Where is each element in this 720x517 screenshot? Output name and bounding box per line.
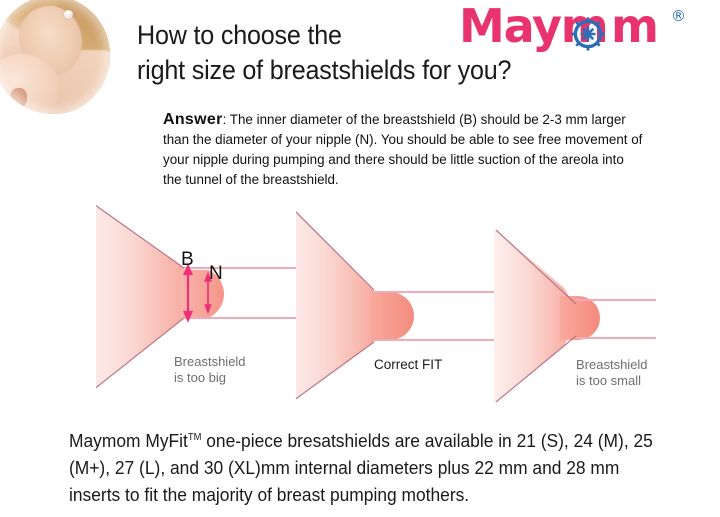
- answer-label: Answer: [163, 111, 223, 128]
- page-title-line-1: How to choose the: [137, 18, 444, 53]
- dimension-label-b: B: [181, 250, 194, 269]
- diagram-breastshield-too-small: Breastshield is too small: [490, 196, 720, 411]
- footer-text-before-tm: Maymom MyFit: [69, 430, 188, 451]
- nipple-shape: [560, 296, 600, 340]
- trademark-icon: TM: [188, 432, 202, 443]
- breastshield-fit-diagrams: B N Breastshield is too big: [0, 196, 720, 411]
- diagram-breastshield-too-big: B N Breastshield is too big: [96, 196, 326, 411]
- answer-body: : The inner diameter of the breastshield…: [163, 112, 642, 187]
- mother-and-baby-photo: [0, 0, 110, 114]
- answer-paragraph: Answer: The inner diameter of the breast…: [163, 110, 643, 190]
- logo-wordmark-right: m: [611, 2, 658, 50]
- photo-edge-vignette: [0, 0, 110, 114]
- breast-shape: [494, 228, 570, 404]
- caption-too-small-line-2: is too small: [576, 373, 720, 389]
- gear-flower-icon: [571, 17, 605, 51]
- registered-trademark-icon: ®: [671, 7, 686, 25]
- dimension-label-n: N: [209, 264, 223, 283]
- caption-too-small-line-1: Breastshield: [576, 357, 720, 373]
- nipple-shape: [370, 292, 414, 340]
- breast-shape: [296, 200, 374, 408]
- breast-shape: [96, 198, 184, 396]
- page-title: How to choose the right size of breastsh…: [137, 18, 444, 88]
- header-band: How to choose the right size of breastsh…: [0, 0, 720, 100]
- maymom-logo[interactable]: Maym: [459, 4, 707, 52]
- caption-too-small: Breastshield is too small: [576, 357, 720, 389]
- product-availability-note: Maymom MyFitTM one-piece bresatshields a…: [69, 424, 657, 508]
- page-title-line-2: right size of breastshields for you?: [137, 53, 444, 88]
